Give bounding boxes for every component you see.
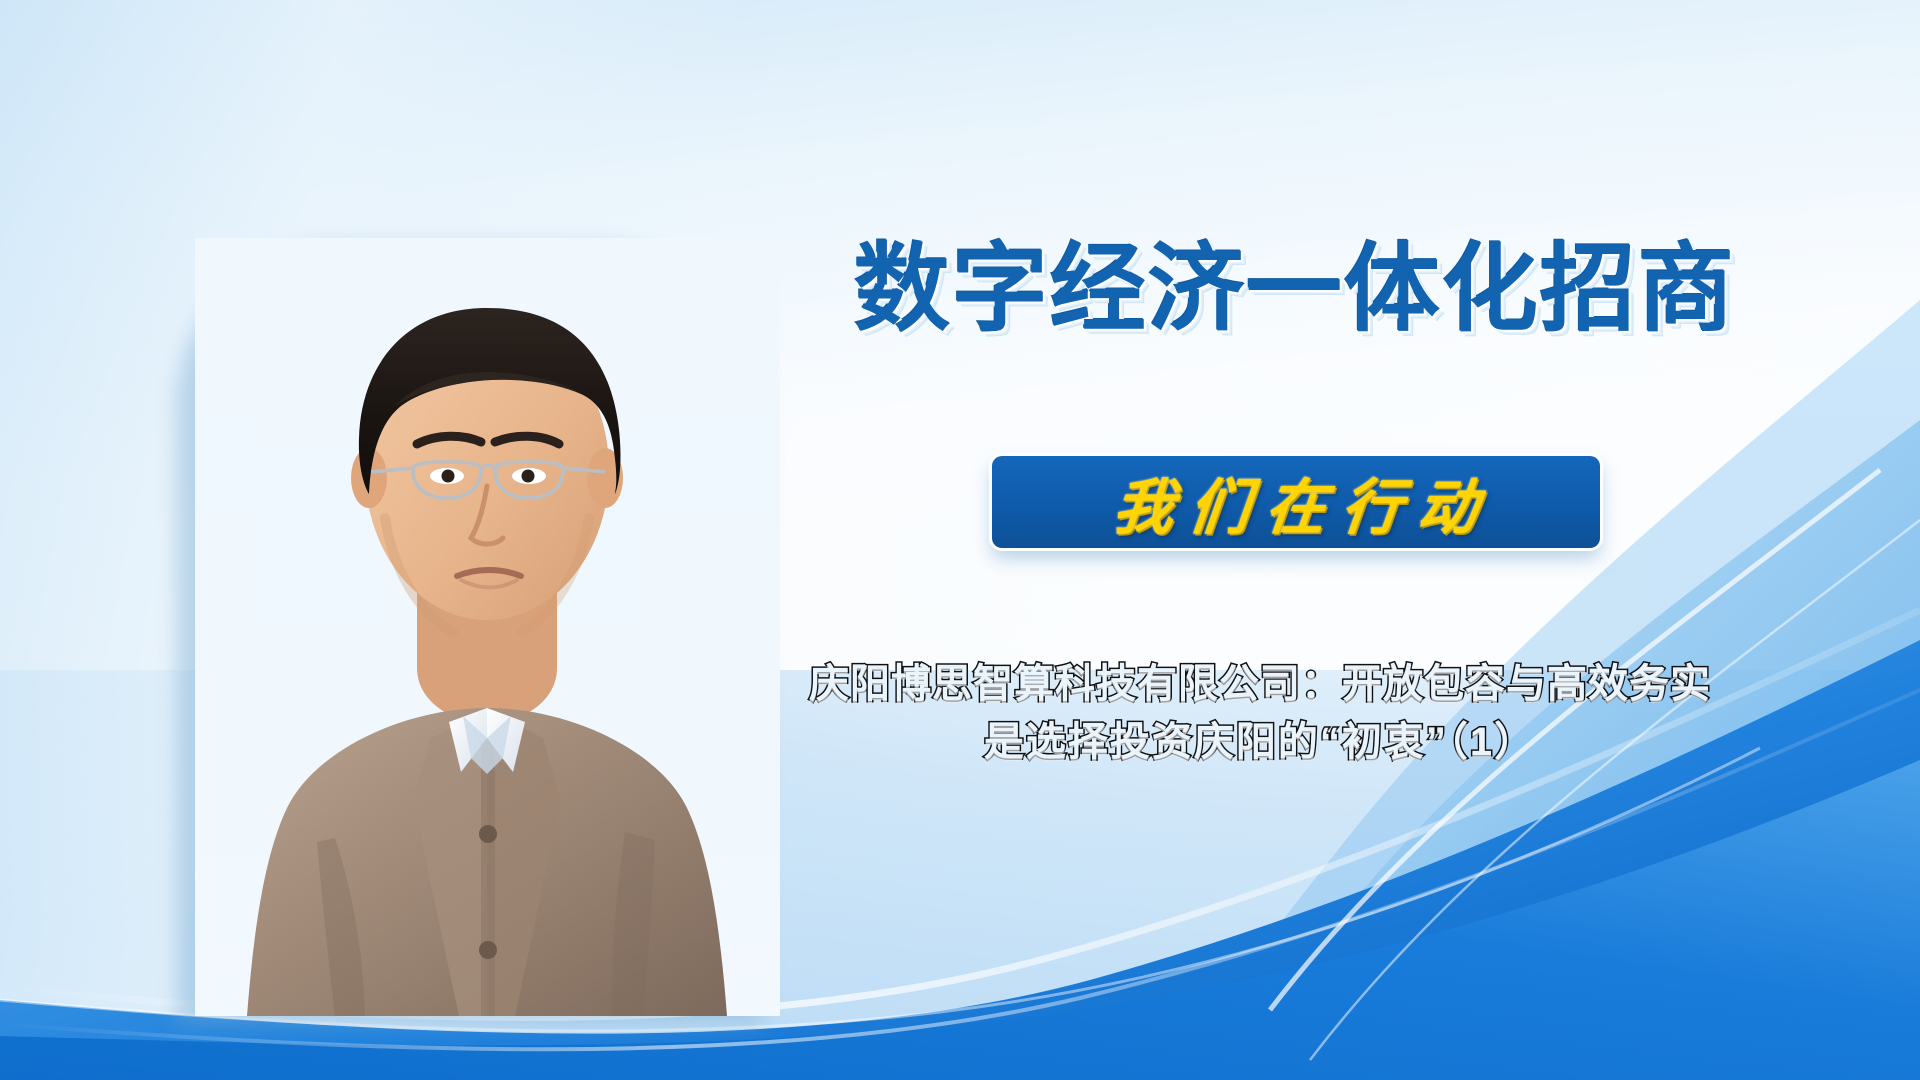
subtitle: 庆阳博思智算科技有限公司：开放包容与高效务实 是选择投资庆阳的“初衷”（1） — [700, 655, 1820, 771]
action-banner: 我们在行动 — [992, 456, 1600, 548]
page-title: 数字经济一体化招商 — [835, 240, 1755, 341]
speaker-portrait — [195, 238, 780, 1016]
subtitle-line-2: 是选择投资庆阳的“初衷”（1） — [700, 713, 1820, 771]
slide-canvas: 数字经济一体化招商 我们在行动 庆阳博思智算科技有限公司：开放包容与高效务实 是… — [0, 0, 1920, 1080]
action-banner-label: 我们在行动 — [1093, 459, 1498, 546]
subtitle-line-1: 庆阳博思智算科技有限公司：开放包容与高效务实 — [700, 655, 1820, 713]
